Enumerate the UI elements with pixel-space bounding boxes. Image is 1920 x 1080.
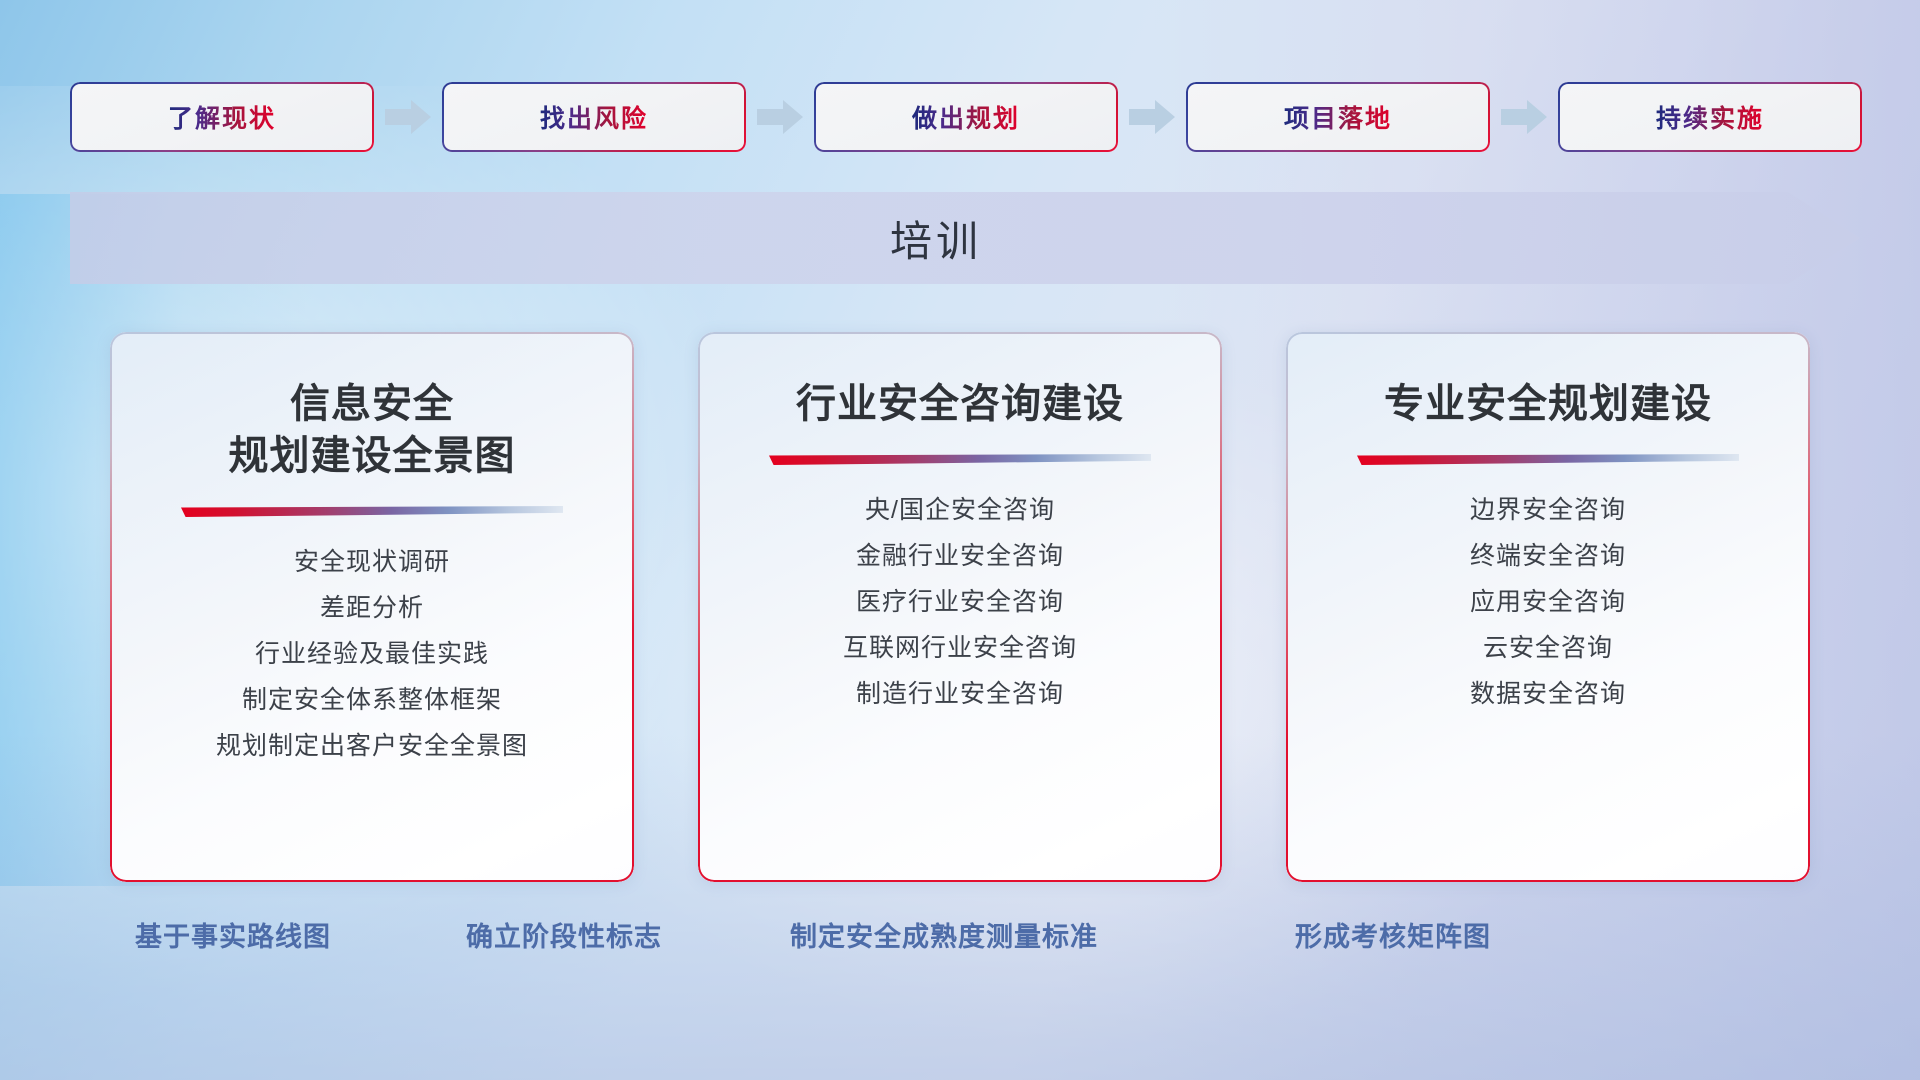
step-label: 做出规划 (912, 99, 1020, 135)
list-item[interactable]: 互联网行业安全咨询 (843, 633, 1077, 663)
process-step-flow: 了解现状找出风险做出规划项目落地持续实施 (70, 80, 1860, 154)
caption-3: 制定安全成熟度测量标准 (790, 915, 1098, 954)
card-accent-divider (769, 454, 1151, 465)
caption-1: 基于事实路线图 (135, 915, 331, 954)
step-label: 项目落地 (1284, 99, 1392, 135)
list-item[interactable]: 医疗行业安全咨询 (856, 587, 1064, 617)
list-item[interactable]: 央/国企安全咨询 (865, 495, 1055, 525)
list-item[interactable]: 边界安全咨询 (1470, 495, 1626, 525)
list-item[interactable]: 制定安全体系整体框架 (242, 685, 502, 715)
card-accent-divider (181, 506, 563, 517)
capability-card-3[interactable]: 专业安全规划建设边界安全咨询终端安全咨询应用安全咨询云安全咨询数据安全咨询 (1286, 332, 1810, 882)
card-accent-divider-fill (181, 506, 563, 517)
card-item-list: 安全现状调研差距分析行业经验及最佳实践制定安全体系整体框架规划制定出客户安全全景… (216, 547, 528, 761)
card-item-list: 边界安全咨询终端安全咨询应用安全咨询云安全咨询数据安全咨询 (1470, 495, 1626, 709)
step-box-1[interactable]: 了解现状 (70, 82, 374, 152)
step-box-3[interactable]: 做出规划 (814, 82, 1118, 152)
card-title: 信息安全 规划建设全景图 (229, 378, 516, 482)
step-label: 了解现状 (168, 99, 276, 135)
list-item[interactable]: 云安全咨询 (1483, 633, 1613, 663)
capability-card-1[interactable]: 信息安全 规划建设全景图安全现状调研差距分析行业经验及最佳实践制定安全体系整体框… (110, 332, 634, 882)
step-box-4[interactable]: 项目落地 (1186, 82, 1490, 152)
caption-row: 基于事实路线图确立阶段性标志制定安全成熟度测量标准形成考核矩阵图 (0, 915, 1920, 975)
card-title: 行业安全咨询建设 (796, 378, 1124, 430)
step-label: 持续实施 (1656, 99, 1764, 135)
right-arrow-icon (374, 100, 442, 134)
card-accent-divider-fill (1357, 454, 1739, 465)
list-item[interactable]: 差距分析 (320, 593, 424, 623)
capability-card-group: 信息安全 规划建设全景图安全现状调研差距分析行业经验及最佳实践制定安全体系整体框… (110, 332, 1810, 892)
card-content: 行业安全咨询建设央/国企安全咨询金融行业安全咨询医疗行业安全咨询互联网行业安全咨… (698, 332, 1222, 882)
training-banner: 培训 (70, 192, 1860, 284)
right-arrow-icon (1490, 100, 1558, 134)
card-title: 专业安全规划建设 (1384, 378, 1712, 430)
card-accent-divider-fill (769, 454, 1151, 465)
step-box-5[interactable]: 持续实施 (1558, 82, 1862, 152)
list-item[interactable]: 行业经验及最佳实践 (255, 639, 489, 669)
list-item[interactable]: 制造行业安全咨询 (856, 679, 1064, 709)
list-item[interactable]: 终端安全咨询 (1470, 541, 1626, 571)
capability-card-2[interactable]: 行业安全咨询建设央/国企安全咨询金融行业安全咨询医疗行业安全咨询互联网行业安全咨… (698, 332, 1222, 882)
caption-2: 确立阶段性标志 (466, 915, 662, 954)
card-accent-divider (1357, 454, 1739, 465)
list-item[interactable]: 数据安全咨询 (1470, 679, 1626, 709)
card-content: 信息安全 规划建设全景图安全现状调研差距分析行业经验及最佳实践制定安全体系整体框… (110, 332, 634, 882)
step-label: 找出风险 (540, 99, 648, 135)
banner-label: 培训 (70, 192, 1860, 284)
right-arrow-icon (746, 100, 814, 134)
caption-4: 形成考核矩阵图 (1295, 915, 1491, 954)
card-content: 专业安全规划建设边界安全咨询终端安全咨询应用安全咨询云安全咨询数据安全咨询 (1286, 332, 1810, 882)
list-item[interactable]: 安全现状调研 (294, 547, 450, 577)
card-item-list: 央/国企安全咨询金融行业安全咨询医疗行业安全咨询互联网行业安全咨询制造行业安全咨… (843, 495, 1077, 709)
list-item[interactable]: 规划制定出客户安全全景图 (216, 731, 528, 761)
list-item[interactable]: 应用安全咨询 (1470, 587, 1626, 617)
right-arrow-icon (1118, 100, 1186, 134)
step-box-2[interactable]: 找出风险 (442, 82, 746, 152)
list-item[interactable]: 金融行业安全咨询 (856, 541, 1064, 571)
